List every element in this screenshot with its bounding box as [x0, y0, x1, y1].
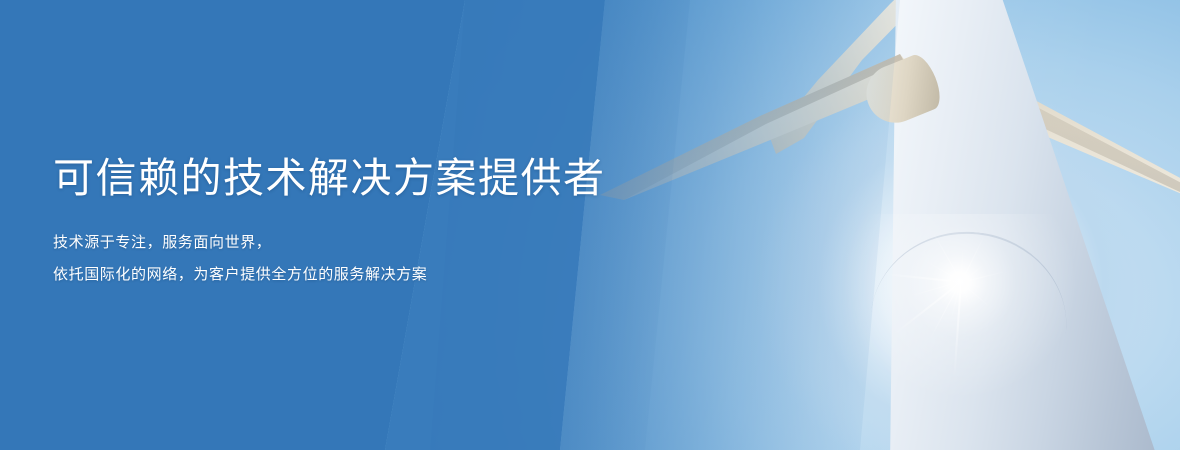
banner-subtitle-line-1: 技术源于专注，服务面向世界， — [53, 232, 271, 253]
hero-banner: 可信赖的技术解决方案提供者 技术源于专注，服务面向世界， 依托国际化的网络，为客… — [0, 0, 1180, 450]
banner-headline: 可信赖的技术解决方案提供者 — [53, 156, 606, 201]
banner-copy: 可信赖的技术解决方案提供者 技术源于专注，服务面向世界， 依托国际化的网络，为客… — [53, 0, 693, 450]
banner-subtitle-line-2: 依托国际化的网络，为客户提供全方位的服务解决方案 — [53, 264, 427, 285]
